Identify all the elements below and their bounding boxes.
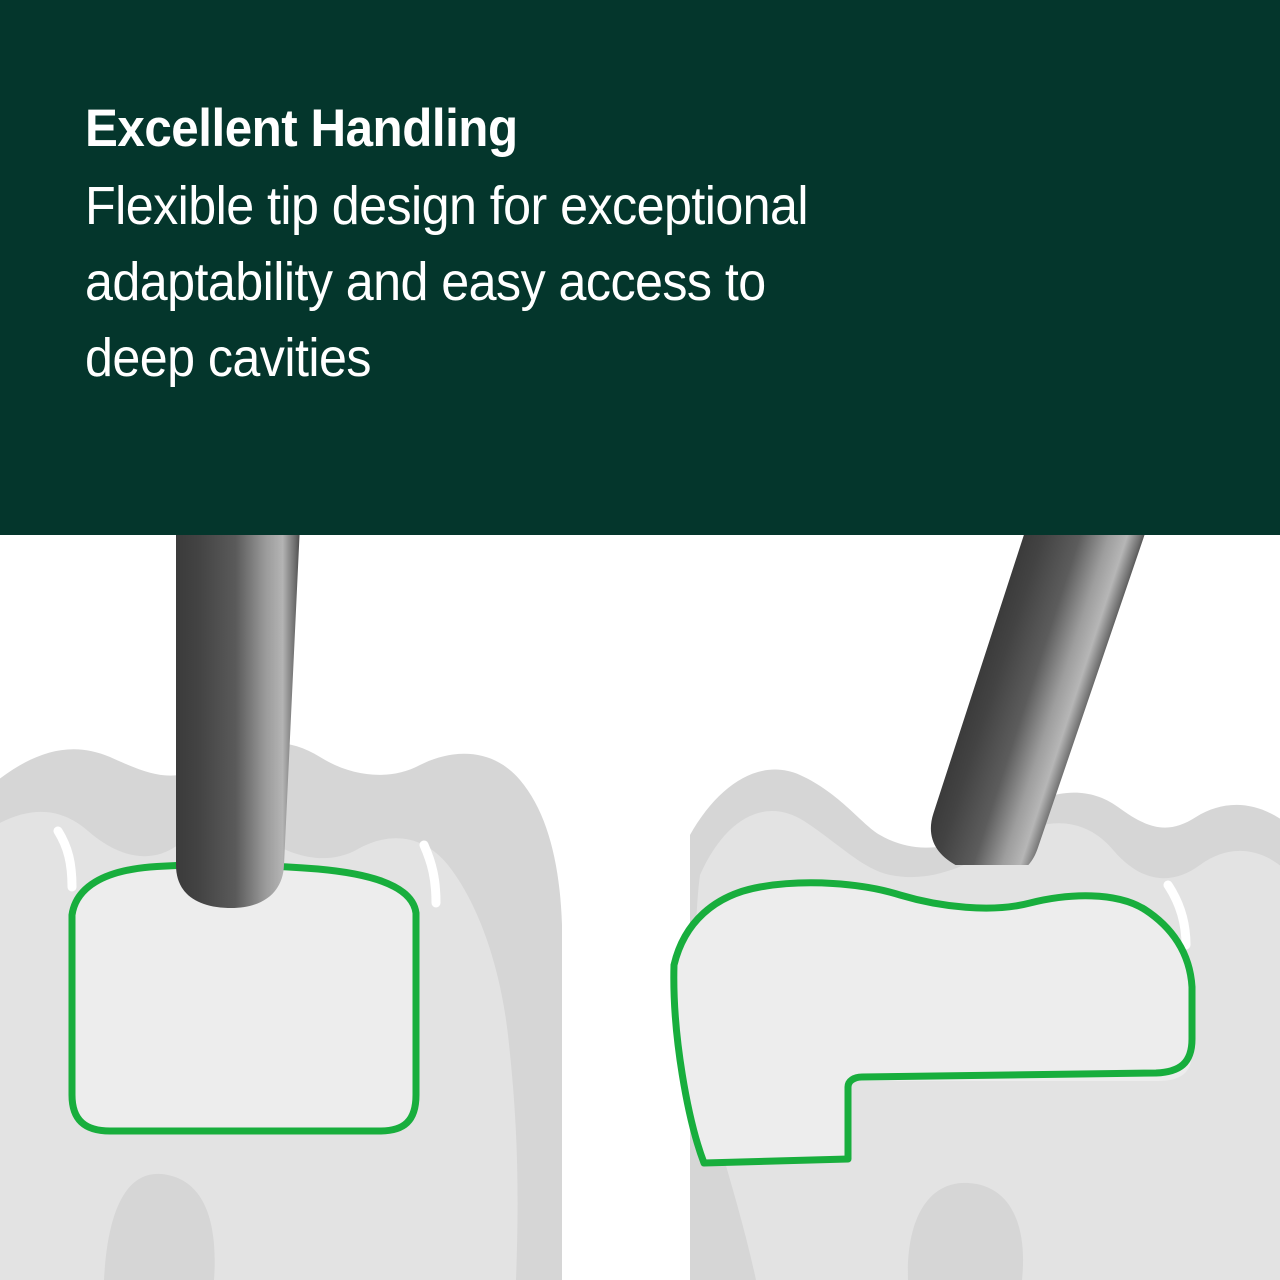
right-tooth-diagram	[674, 535, 1280, 1280]
left-instrument	[176, 535, 300, 908]
illustration-svg	[0, 535, 1280, 1280]
subtitle-line-1: Flexible tip design for exceptional	[85, 168, 1182, 244]
page-title: Excellent Handling	[85, 96, 1117, 162]
subtitle-line-2: adaptability and easy access to	[85, 244, 1182, 320]
left-tooth-diagram	[0, 535, 562, 1280]
subtitle-line-3: deep cavities	[85, 320, 1182, 396]
left-instrument-shaft	[176, 535, 300, 908]
header-banner: Excellent Handling Flexible tip design f…	[0, 0, 1280, 535]
product-feature-card: Excellent Handling Flexible tip design f…	[0, 0, 1280, 1280]
banner-text-block: Excellent Handling Flexible tip design f…	[85, 96, 1195, 396]
subtitle: Flexible tip design for exceptional adap…	[85, 168, 1182, 396]
dental-illustration	[0, 535, 1280, 1280]
